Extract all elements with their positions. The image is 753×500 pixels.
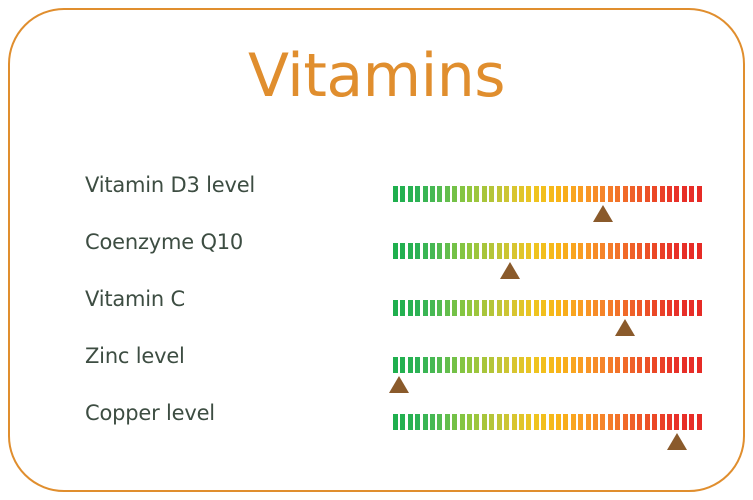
gauge-tick: [682, 243, 687, 259]
gauge-tick: [504, 243, 509, 259]
gauge-tick: [600, 300, 605, 316]
gauge-tick: [623, 300, 628, 316]
vitamin-rows-list: Vitamin D3 level Coenzyme Q10 Vitamin C …: [10, 165, 743, 450]
gauge-tick: [645, 186, 650, 202]
gauge-tick: [519, 186, 524, 202]
gauge-tick: [645, 357, 650, 373]
gauge-tick: [667, 186, 672, 202]
gauge-tick: [556, 186, 561, 202]
gauge-tick: [482, 357, 487, 373]
gauge-tick: [393, 243, 398, 259]
gauge-tick: [452, 243, 457, 259]
gauge-tick: [430, 414, 435, 430]
gauge-tick: [660, 414, 665, 430]
gauge-tick: [674, 357, 679, 373]
gauge-tick: [474, 357, 479, 373]
gauge-tick: [437, 357, 442, 373]
gauge-tick: [497, 243, 502, 259]
gauge-tick: [563, 414, 568, 430]
gauge-tick: [630, 357, 635, 373]
gauge-tick: [615, 414, 620, 430]
gauge-tick: [400, 414, 405, 430]
gauge-tick: [393, 300, 398, 316]
gauge-tick: [630, 300, 635, 316]
gauge-tick: [578, 243, 583, 259]
gauge-tick: [423, 357, 428, 373]
gauge-vitamin-c[interactable]: [393, 300, 702, 316]
gauge-tick: [549, 300, 554, 316]
gauge-tick: [512, 300, 517, 316]
gauge-tick: [489, 414, 494, 430]
gauge-tick: [393, 357, 398, 373]
gauge-marker-triangle-icon: [389, 376, 409, 393]
gauge-tick: [526, 243, 531, 259]
gauge-tick: [600, 243, 605, 259]
gauge-tick: [615, 186, 620, 202]
gauge-track: [393, 414, 702, 430]
gauge-tick: [623, 243, 628, 259]
gauge-tick: [556, 414, 561, 430]
gauge-tick: [586, 414, 591, 430]
gauge-tick: [652, 357, 657, 373]
gauge-tick: [437, 186, 442, 202]
gauge-tick: [652, 243, 657, 259]
gauge-tick: [637, 357, 642, 373]
gauge-tick: [541, 243, 546, 259]
gauge-tick: [645, 300, 650, 316]
gauge-tick: [689, 243, 694, 259]
gauge-tick: [615, 243, 620, 259]
gauge-tick: [660, 357, 665, 373]
gauge-tick: [474, 243, 479, 259]
gauge-marker-triangle-icon: [615, 319, 635, 336]
gauge-tick: [667, 357, 672, 373]
gauge-tick: [526, 357, 531, 373]
gauge-tick: [408, 243, 413, 259]
list-item: Zinc level: [10, 336, 743, 393]
gauge-tick: [571, 357, 576, 373]
gauge-tick: [682, 414, 687, 430]
gauge-tick: [623, 357, 628, 373]
gauge-tick: [549, 414, 554, 430]
gauge-track: [393, 357, 702, 373]
gauge-tick: [556, 300, 561, 316]
gauge-tick: [408, 300, 413, 316]
gauge-tick: [445, 300, 450, 316]
gauge-tick: [452, 357, 457, 373]
gauge-tick: [608, 357, 613, 373]
gauge-track: [393, 186, 702, 202]
row-label-vitamin-d3: Vitamin D3 level: [85, 173, 255, 197]
gauge-marker-triangle-icon: [667, 433, 687, 450]
gauge-tick: [512, 243, 517, 259]
gauge-tick: [689, 300, 694, 316]
vitamins-card: Vitamins Vitamin D3 level Coenzyme Q10 V…: [8, 8, 745, 492]
gauge-tick: [445, 357, 450, 373]
list-item: Vitamin D3 level: [10, 165, 743, 222]
gauge-tick: [482, 300, 487, 316]
gauge-tick: [430, 300, 435, 316]
gauge-tick: [423, 186, 428, 202]
gauge-tick: [393, 414, 398, 430]
gauge-tick: [549, 243, 554, 259]
gauge-tick: [474, 186, 479, 202]
gauge-tick: [504, 186, 509, 202]
gauge-tick: [497, 300, 502, 316]
gauge-tick: [423, 243, 428, 259]
gauge-tick: [467, 186, 472, 202]
gauge-tick: [445, 414, 450, 430]
gauge-tick: [534, 414, 539, 430]
gauge-tick: [667, 243, 672, 259]
gauge-tick: [541, 357, 546, 373]
gauge-tick: [534, 300, 539, 316]
gauge-tick: [460, 414, 465, 430]
gauge-tick: [652, 186, 657, 202]
gauge-tick: [593, 300, 598, 316]
gauge-tick: [541, 186, 546, 202]
gauge-tick: [571, 186, 576, 202]
gauge-tick: [637, 186, 642, 202]
gauge-tick: [674, 243, 679, 259]
gauge-tick: [674, 414, 679, 430]
gauge-tick: [400, 300, 405, 316]
gauge-tick: [489, 357, 494, 373]
gauge-tick: [526, 414, 531, 430]
gauge-tick: [549, 357, 554, 373]
gauge-tick: [497, 414, 502, 430]
row-label-copper: Copper level: [85, 401, 215, 425]
list-item: Vitamin C: [10, 279, 743, 336]
gauge-tick: [415, 300, 420, 316]
gauge-tick: [504, 414, 509, 430]
gauge-tick: [467, 243, 472, 259]
gauge-tick: [593, 357, 598, 373]
gauge-tick: [593, 243, 598, 259]
gauge-tick: [645, 243, 650, 259]
gauge-tick: [667, 414, 672, 430]
gauge-tick: [512, 414, 517, 430]
gauge-tick: [689, 357, 694, 373]
gauge-tick: [571, 300, 576, 316]
gauge-tick: [593, 414, 598, 430]
gauge-tick: [519, 357, 524, 373]
gauge-tick: [519, 300, 524, 316]
gauge-tick: [637, 243, 642, 259]
gauge-tick: [615, 357, 620, 373]
gauge-tick: [534, 243, 539, 259]
gauge-tick: [393, 186, 398, 202]
gauge-tick: [430, 186, 435, 202]
gauge-tick: [534, 186, 539, 202]
gauge-tick: [460, 186, 465, 202]
gauge-tick: [615, 300, 620, 316]
gauge-tick: [534, 357, 539, 373]
gauge-tick: [415, 186, 420, 202]
gauge-tick: [452, 300, 457, 316]
gauge-tick: [563, 357, 568, 373]
gauge-tick: [630, 186, 635, 202]
gauge-tick: [430, 243, 435, 259]
gauge-tick: [623, 414, 628, 430]
gauge-tick: [400, 186, 405, 202]
gauge-tick: [497, 186, 502, 202]
gauge-tick: [489, 186, 494, 202]
gauge-tick: [578, 186, 583, 202]
gauge-tick: [578, 300, 583, 316]
gauge-tick: [578, 357, 583, 373]
gauge-tick: [593, 186, 598, 202]
gauge-tick: [474, 414, 479, 430]
gauge-marker-triangle-icon: [500, 262, 520, 279]
row-label-coenzyme-q10: Coenzyme Q10: [85, 230, 243, 254]
gauge-tick: [697, 243, 702, 259]
gauge-tick: [482, 243, 487, 259]
gauge-tick: [452, 186, 457, 202]
gauge-tick: [460, 300, 465, 316]
gauge-tick: [637, 300, 642, 316]
gauge-tick: [467, 414, 472, 430]
gauge-tick: [415, 243, 420, 259]
gauge-tick: [504, 357, 509, 373]
gauge-tick: [608, 300, 613, 316]
gauge-tick: [697, 300, 702, 316]
gauge-tick: [637, 414, 642, 430]
gauge-tick: [400, 243, 405, 259]
gauge-tick: [489, 243, 494, 259]
gauge-tick: [415, 357, 420, 373]
gauge-tick: [660, 186, 665, 202]
gauge-tick: [652, 300, 657, 316]
gauge-tick: [600, 414, 605, 430]
gauge-tick: [445, 243, 450, 259]
gauge-tick: [682, 186, 687, 202]
gauge-tick: [423, 300, 428, 316]
gauge-tick: [608, 186, 613, 202]
gauge-tick: [437, 414, 442, 430]
gauge-tick: [674, 186, 679, 202]
gauge-tick: [586, 243, 591, 259]
gauge-tick: [623, 186, 628, 202]
gauge-track: [393, 300, 702, 316]
gauge-tick: [423, 414, 428, 430]
gauge-tick: [682, 300, 687, 316]
gauge-tick: [408, 357, 413, 373]
gauge-tick: [608, 243, 613, 259]
gauge-vitamin-d3[interactable]: [393, 186, 702, 202]
gauge-tick: [578, 414, 583, 430]
gauge-tick: [697, 186, 702, 202]
gauge-tick: [689, 414, 694, 430]
gauge-tick: [482, 414, 487, 430]
gauge-tick: [460, 243, 465, 259]
gauge-tick: [474, 300, 479, 316]
gauge-tick: [519, 243, 524, 259]
gauge-tick: [600, 357, 605, 373]
gauge-tick: [697, 357, 702, 373]
gauge-tick: [400, 357, 405, 373]
gauge-tick: [408, 186, 413, 202]
gauge-tick: [504, 300, 509, 316]
gauge-tick: [600, 186, 605, 202]
gauge-tick: [586, 357, 591, 373]
gauge-tick: [519, 414, 524, 430]
gauge-marker-triangle-icon: [593, 205, 613, 222]
gauge-tick: [563, 300, 568, 316]
gauge-tick: [512, 186, 517, 202]
gauge-tick: [482, 186, 487, 202]
gauge-zinc[interactable]: [393, 357, 702, 373]
gauge-tick: [526, 300, 531, 316]
row-label-vitamin-c: Vitamin C: [85, 287, 185, 311]
gauge-tick: [689, 186, 694, 202]
gauge-track: [393, 243, 702, 259]
gauge-tick: [630, 243, 635, 259]
gauge-tick: [430, 357, 435, 373]
gauge-tick: [526, 186, 531, 202]
gauge-tick: [608, 414, 613, 430]
gauge-tick: [586, 300, 591, 316]
gauge-tick: [563, 186, 568, 202]
gauge-copper[interactable]: [393, 414, 702, 430]
gauge-tick: [571, 414, 576, 430]
gauge-tick: [467, 300, 472, 316]
list-item: Coenzyme Q10: [10, 222, 743, 279]
gauge-tick: [541, 300, 546, 316]
gauge-tick: [667, 300, 672, 316]
gauge-tick: [437, 243, 442, 259]
gauge-tick: [682, 357, 687, 373]
gauge-tick: [437, 300, 442, 316]
gauge-tick: [571, 243, 576, 259]
gauge-tick: [660, 243, 665, 259]
gauge-tick: [674, 300, 679, 316]
gauge-tick: [586, 186, 591, 202]
gauge-tick: [645, 414, 650, 430]
gauge-tick: [445, 186, 450, 202]
gauge-tick: [512, 357, 517, 373]
page-title: Vitamins: [10, 46, 743, 106]
gauge-tick: [415, 414, 420, 430]
list-item: Copper level: [10, 393, 743, 450]
gauge-tick: [660, 300, 665, 316]
gauge-tick: [697, 414, 702, 430]
gauge-coenzyme-q10[interactable]: [393, 243, 702, 259]
gauge-tick: [563, 243, 568, 259]
gauge-tick: [408, 414, 413, 430]
gauge-tick: [452, 414, 457, 430]
row-label-zinc: Zinc level: [85, 344, 185, 368]
gauge-tick: [489, 300, 494, 316]
gauge-tick: [541, 414, 546, 430]
gauge-tick: [556, 357, 561, 373]
gauge-tick: [460, 357, 465, 373]
gauge-tick: [630, 414, 635, 430]
gauge-tick: [467, 357, 472, 373]
gauge-tick: [549, 186, 554, 202]
gauge-tick: [652, 414, 657, 430]
gauge-tick: [556, 243, 561, 259]
gauge-tick: [497, 357, 502, 373]
